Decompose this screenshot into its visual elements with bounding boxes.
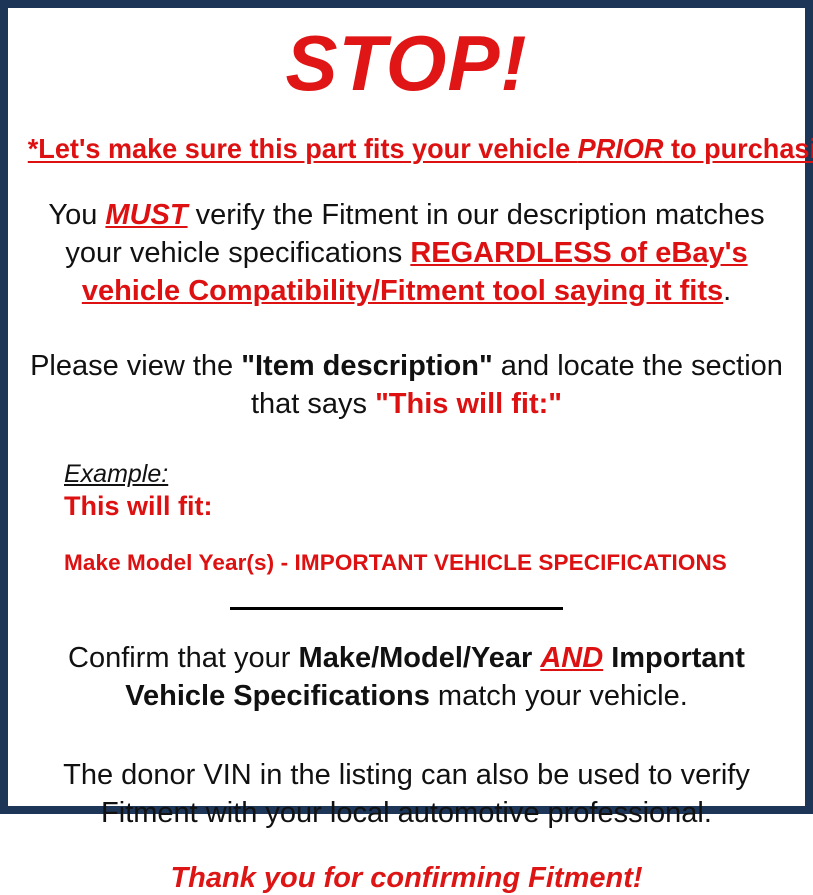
and-emphasis: AND (540, 642, 603, 674)
divider (230, 607, 563, 610)
example-label: Example: (64, 460, 791, 489)
tagline-part1: *Let's make sure this part fits your veh… (28, 133, 578, 164)
example-spec-line: Make Model Year(s) - IMPORTANT VEHICLE S… (64, 549, 791, 576)
tagline-prior-emphasis: PRIOR (578, 133, 664, 164)
itemdesc-part1: Please view the (30, 350, 241, 382)
page-title: STOP! (22, 24, 791, 102)
must-part1: You (48, 199, 105, 231)
fitment-notice-frame: STOP! *Let's make sure this part fits yo… (0, 0, 813, 814)
thank-you-message: Thank you for confirming Fitment! (22, 861, 791, 895)
paragraph-donor-vin: The donor VIN in the listing can also be… (22, 757, 791, 832)
tagline: *Let's make sure this part fits your veh… (28, 134, 785, 164)
must-part3: . (723, 275, 731, 307)
paragraph-item-description: Please view the "Item description" and l… (22, 348, 791, 423)
confirm-part3: match your vehicle. (430, 680, 688, 712)
example-block: Example: This will fit: Make Model Year(… (22, 460, 791, 576)
make-model-year-emphasis: Make/Model/Year (299, 642, 541, 674)
item-description-emphasis: "Item description" (241, 350, 492, 382)
must-emphasis: MUST (105, 199, 187, 231)
paragraph-confirm: Confirm that your Make/Model/Year AND Im… (22, 640, 791, 715)
confirm-part1: Confirm that your (68, 642, 298, 674)
confirm-part2 (603, 642, 611, 674)
this-will-fit-emphasis: "This will fit:" (375, 388, 562, 420)
tagline-part2: to purchasing* (663, 133, 813, 164)
example-will-fit-heading: This will fit: (64, 490, 791, 522)
paragraph-must-verify: You MUST verify the Fitment in our descr… (22, 197, 791, 310)
